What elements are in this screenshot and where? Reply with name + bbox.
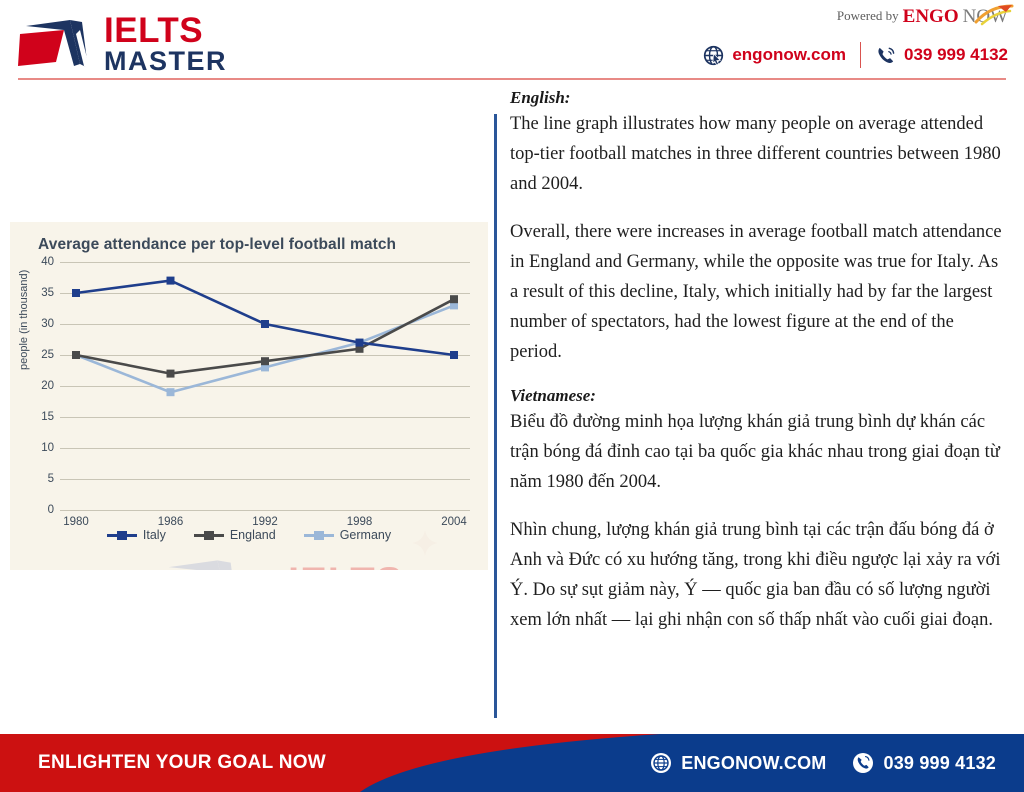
legend-swatch-icon — [194, 529, 224, 541]
chart-point-england — [72, 351, 80, 359]
chart-point-italy — [167, 277, 175, 285]
vietnamese-paragraph-1: Biểu đồ đường minh họa lượng khán giả tr… — [510, 408, 1010, 498]
legend-swatch-icon — [304, 529, 334, 541]
header-phone-link[interactable]: 039 999 4132 — [875, 45, 1008, 66]
chart-watermark: IELTS MASTER Powered by ENGONOW — [128, 560, 428, 570]
chart-point-italy — [450, 351, 458, 359]
header-divider — [18, 78, 1006, 80]
chart-panel: Average attendance per top-level footbal… — [10, 222, 488, 570]
chart-x-tick-label: 1992 — [252, 516, 278, 528]
explanation-column: English: The line graph illustrates how … — [494, 88, 1014, 718]
chart-y-tick-label: 20 — [41, 380, 54, 392]
chart-point-england — [167, 370, 175, 378]
chart-point-england — [261, 357, 269, 365]
header-phone-label: 039 999 4132 — [904, 45, 1008, 65]
page-header: IELTS MASTER Powered by ENGO NOW engonow… — [0, 0, 1024, 84]
legend-swatch-icon — [107, 529, 137, 541]
legend-label: Italy — [143, 528, 166, 542]
vietnamese-heading: Vietnamese: — [510, 386, 1010, 406]
chart-y-tick-label: 10 — [41, 442, 54, 454]
powered-by-engonow: Powered by ENGO NOW — [837, 8, 1008, 34]
chart-point-italy — [261, 320, 269, 328]
chart-series-layer — [60, 262, 470, 510]
chart-y-tick-label: 40 — [41, 256, 54, 268]
chart-y-tick-label: 35 — [41, 287, 54, 299]
chart-y-tick-label: 5 — [48, 473, 54, 485]
vietnamese-paragraph-2: Nhìn chung, lượng khán giả trung bình tạ… — [510, 516, 1010, 636]
phone-icon — [852, 752, 874, 774]
header-website-label: engonow.com — [732, 45, 846, 65]
chart-y-axis-label: people (in thousand) — [18, 270, 30, 370]
chart-point-italy — [356, 339, 364, 347]
chart-point-italy — [72, 289, 80, 297]
legend-item-germany[interactable]: Germany — [304, 528, 391, 542]
footer-phone-label: 039 999 4132 — [883, 753, 996, 774]
legend-label: Germany — [340, 528, 391, 542]
legend-item-england[interactable]: England — [194, 528, 276, 542]
chart-point-england — [450, 295, 458, 303]
chart-y-tick-label: 25 — [41, 349, 54, 361]
chart-x-tick-label: 1986 — [158, 516, 184, 528]
globe-icon — [650, 752, 672, 774]
chart-y-tick-label: 30 — [41, 318, 54, 330]
swoosh-icon — [974, 4, 1014, 26]
footer-website-link[interactable]: ENGONOW.COM — [650, 752, 826, 774]
chart-gridline — [60, 510, 470, 511]
accent-divider-bar — [494, 114, 497, 718]
ielts-master-logo-icon — [18, 16, 96, 72]
legend-label: England — [230, 528, 276, 542]
chart-title: Average attendance per top-level footbal… — [38, 236, 396, 254]
footer-slogan: ENLIGHTEN YOUR GOAL NOW — [38, 752, 326, 774]
phone-icon — [875, 45, 896, 66]
globe-icon — [703, 45, 724, 66]
watermark-ielts-text: IELTS — [288, 560, 403, 570]
engonow-brand-bold: ENGO — [903, 8, 959, 26]
chart-y-tick-label: 0 — [48, 504, 54, 516]
header-contact-divider — [860, 42, 861, 68]
chart-line-italy — [76, 281, 454, 355]
chart-x-tick-label: 1980 — [63, 516, 89, 528]
header-website-link[interactable]: engonow.com — [703, 45, 846, 66]
header-contact-row: engonow.com 039 999 4132 — [703, 42, 1008, 68]
english-paragraph-2: Overall, there were increases in average… — [510, 218, 1010, 368]
chart-point-germany — [167, 388, 175, 396]
logo-ielts-text: IELTS — [104, 14, 227, 48]
watermark-logo-icon — [128, 556, 278, 570]
footer-phone-link[interactable]: 039 999 4132 — [852, 752, 996, 774]
legend-item-italy[interactable]: Italy — [107, 528, 166, 542]
page-footer: ENLIGHTEN YOUR GOAL NOW ENGONOW.COM 039 … — [0, 734, 1024, 792]
english-heading: English: — [510, 88, 1010, 108]
brand-logo[interactable]: IELTS MASTER — [18, 14, 227, 75]
chart-plot-area: people (in thousand) 0510152025303540 19… — [60, 262, 470, 510]
english-paragraph-1: The line graph illustrates how many peop… — [510, 110, 1010, 200]
footer-website-label: ENGONOW.COM — [681, 753, 826, 774]
chart-y-tick-label: 15 — [41, 411, 54, 423]
chart-x-tick-label: 2004 — [441, 516, 467, 528]
chart-x-tick-label: 1998 — [347, 516, 373, 528]
logo-master-text: MASTER — [104, 48, 227, 74]
chart-legend: ItalyEnglandGermany — [10, 528, 488, 542]
powered-by-label: Powered by — [837, 8, 899, 24]
footer-contact-row: ENGONOW.COM 039 999 4132 — [650, 752, 996, 774]
